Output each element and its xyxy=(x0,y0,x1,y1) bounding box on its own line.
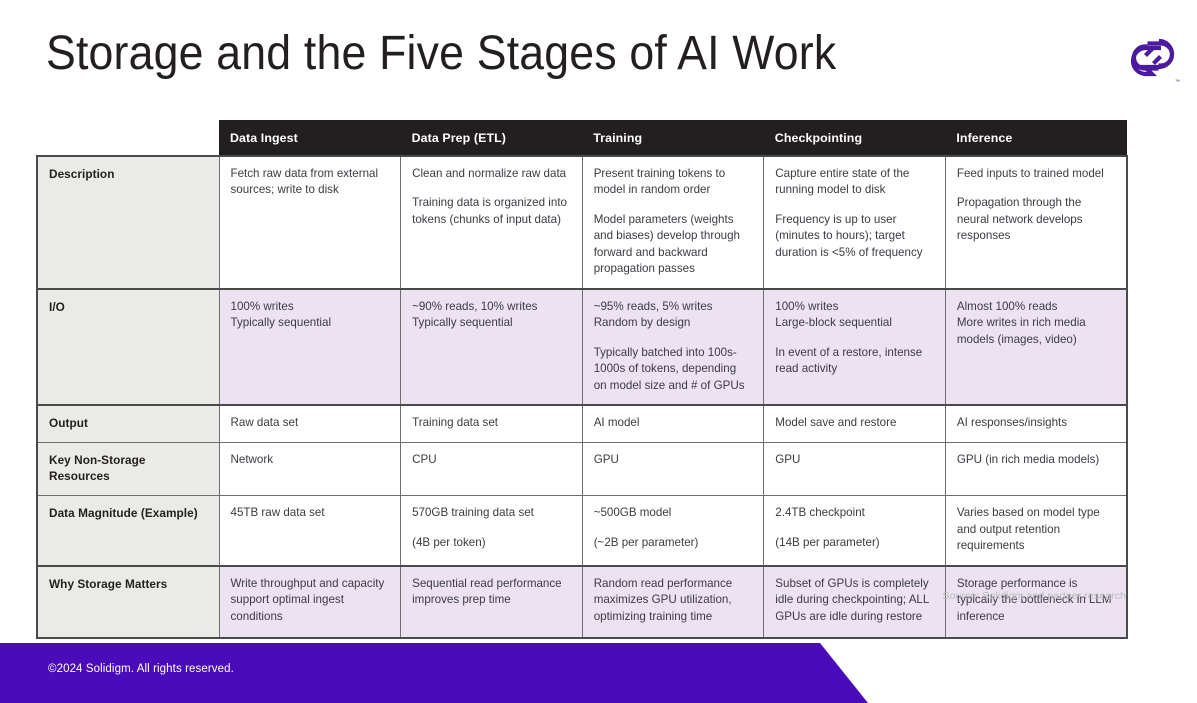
cell-paragraph: Feed inputs to trained model xyxy=(957,166,1114,182)
table-cell: Model save and restore xyxy=(764,405,946,442)
stages-table-container: Data Ingest Data Prep (ETL) Training Che… xyxy=(36,120,1126,639)
table-cell: Present training tokens to model in rand… xyxy=(582,156,764,289)
cell-paragraph: Training data is organized into tokens (… xyxy=(412,195,570,228)
cell-paragraph: Clean and normalize raw data xyxy=(412,166,570,182)
column-header-checkpointing: Checkpointing xyxy=(764,120,946,156)
cell-paragraph: Network xyxy=(231,452,389,468)
table-cell: ~90% reads, 10% writesTypically sequenti… xyxy=(401,289,583,405)
cell-paragraph: Subset of GPUs is completely idle during… xyxy=(775,576,933,625)
table-cell: GPU xyxy=(764,442,946,496)
table-row: Data Magnitude (Example)45TB raw data se… xyxy=(37,496,1127,566)
cell-paragraph: Model save and restore xyxy=(775,415,933,431)
row-label: Why Storage Matters xyxy=(37,566,219,638)
table-cell: GPU xyxy=(582,442,764,496)
cell-paragraph: CPU xyxy=(412,452,570,468)
cell-paragraph: AI responses/insights xyxy=(957,415,1114,431)
row-label: I/O xyxy=(37,289,219,405)
cell-paragraph: ~90% reads, 10% writesTypically sequenti… xyxy=(412,299,570,332)
page-title: Storage and the Five Stages of AI Work xyxy=(46,26,836,81)
row-label: Key Non-Storage Resources xyxy=(37,442,219,496)
cell-paragraph: Capture entire state of the running mode… xyxy=(775,166,933,199)
table-cell: Fetch raw data from external sources; wr… xyxy=(219,156,401,289)
table-cell: Almost 100% readsMore writes in rich med… xyxy=(945,289,1127,405)
stages-table: Data Ingest Data Prep (ETL) Training Che… xyxy=(36,120,1128,639)
table-row: OutputRaw data setTraining data setAI mo… xyxy=(37,405,1127,442)
solidigm-logo-mark xyxy=(1125,28,1181,84)
cell-paragraph: Frequency is up to user (minutes to hour… xyxy=(775,212,933,261)
cell-paragraph: Raw data set xyxy=(231,415,389,431)
cell-paragraph: Propagation through the neural network d… xyxy=(957,195,1114,244)
column-header-training: Training xyxy=(582,120,764,156)
source-attribution: Source: Solidigm and partner research xyxy=(943,590,1126,602)
cell-paragraph: (~2B per parameter) xyxy=(594,535,752,551)
table-row: I/O100% writesTypically sequential~90% r… xyxy=(37,289,1127,405)
column-header-data-prep: Data Prep (ETL) xyxy=(401,120,583,156)
cell-paragraph: Varies based on model type and output re… xyxy=(957,505,1114,554)
table-cell: Training data set xyxy=(401,405,583,442)
cell-paragraph: Typically batched into 100s-1000s of tok… xyxy=(594,345,752,394)
table-body: DescriptionFetch raw data from external … xyxy=(37,156,1127,638)
cell-paragraph: In event of a restore, intense read acti… xyxy=(775,345,933,378)
table-cell: Feed inputs to trained modelPropagation … xyxy=(945,156,1127,289)
table-cell: AI responses/insights xyxy=(945,405,1127,442)
table-cell: AI model xyxy=(582,405,764,442)
cell-paragraph: Sequential read performance improves pre… xyxy=(412,576,570,609)
cell-paragraph: GPU (in rich media models) xyxy=(957,452,1114,468)
row-label: Description xyxy=(37,156,219,289)
table-cell: 100% writesTypically sequential xyxy=(219,289,401,405)
table-corner-cell xyxy=(37,120,219,156)
cell-paragraph: (4B per token) xyxy=(412,535,570,551)
table-cell: Sequential read performance improves pre… xyxy=(401,566,583,638)
footer-bar: ©2024 Solidigm. All rights reserved. xyxy=(0,643,868,703)
cell-paragraph: ~95% reads, 5% writesRandom by design xyxy=(594,299,752,332)
cell-paragraph: 570GB training data set xyxy=(412,505,570,521)
cell-paragraph: 45TB raw data set xyxy=(231,505,389,521)
cell-paragraph: Write throughput and capacity support op… xyxy=(231,576,389,625)
table-row: Key Non-Storage ResourcesNetworkCPUGPUGP… xyxy=(37,442,1127,496)
table-cell: Network xyxy=(219,442,401,496)
table-header-row: Data Ingest Data Prep (ETL) Training Che… xyxy=(37,120,1127,156)
cell-paragraph: 100% writesLarge-block sequential xyxy=(775,299,933,332)
table-cell: Clean and normalize raw dataTraining dat… xyxy=(401,156,583,289)
table-cell: Capture entire state of the running mode… xyxy=(764,156,946,289)
solidigm-logo: ™ xyxy=(1125,28,1181,84)
cell-paragraph: GPU xyxy=(594,452,752,468)
row-label: Output xyxy=(37,405,219,442)
table-cell: Write throughput and capacity support op… xyxy=(219,566,401,638)
trademark-symbol: ™ xyxy=(1175,79,1180,85)
table-cell: 570GB training data set(4B per token) xyxy=(401,496,583,566)
row-label: Data Magnitude (Example) xyxy=(37,496,219,566)
column-header-data-ingest: Data Ingest xyxy=(219,120,401,156)
table-cell: Raw data set xyxy=(219,405,401,442)
cell-paragraph: Training data set xyxy=(412,415,570,431)
cell-paragraph: (14B per parameter) xyxy=(775,535,933,551)
cell-paragraph: Fetch raw data from external sources; wr… xyxy=(231,166,389,199)
table-cell: GPU (in rich media models) xyxy=(945,442,1127,496)
cell-paragraph: Present training tokens to model in rand… xyxy=(594,166,752,199)
cell-paragraph: AI model xyxy=(594,415,752,431)
cell-paragraph: ~500GB model xyxy=(594,505,752,521)
cell-paragraph: Almost 100% readsMore writes in rich med… xyxy=(957,299,1114,348)
table-cell: CPU xyxy=(401,442,583,496)
cell-paragraph: Model parameters (weights and biases) de… xyxy=(594,212,752,278)
table-row: DescriptionFetch raw data from external … xyxy=(37,156,1127,289)
table-cell: ~500GB model(~2B per parameter) xyxy=(582,496,764,566)
cell-paragraph: Random read performance maximizes GPU ut… xyxy=(594,576,752,625)
copyright-text: ©2024 Solidigm. All rights reserved. xyxy=(48,663,234,675)
table-cell: 100% writesLarge-block sequentialIn even… xyxy=(764,289,946,405)
cell-paragraph: 100% writesTypically sequential xyxy=(231,299,389,332)
table-cell: Random read performance maximizes GPU ut… xyxy=(582,566,764,638)
table-cell: Subset of GPUs is completely idle during… xyxy=(764,566,946,638)
cell-paragraph: 2.4TB checkpoint xyxy=(775,505,933,521)
cell-paragraph: GPU xyxy=(775,452,933,468)
table-cell: Varies based on model type and output re… xyxy=(945,496,1127,566)
table-header: Data Ingest Data Prep (ETL) Training Che… xyxy=(37,120,1127,156)
table-cell: 45TB raw data set xyxy=(219,496,401,566)
table-cell: 2.4TB checkpoint(14B per parameter) xyxy=(764,496,946,566)
table-cell: ~95% reads, 5% writesRandom by designTyp… xyxy=(582,289,764,405)
column-header-inference: Inference xyxy=(945,120,1127,156)
